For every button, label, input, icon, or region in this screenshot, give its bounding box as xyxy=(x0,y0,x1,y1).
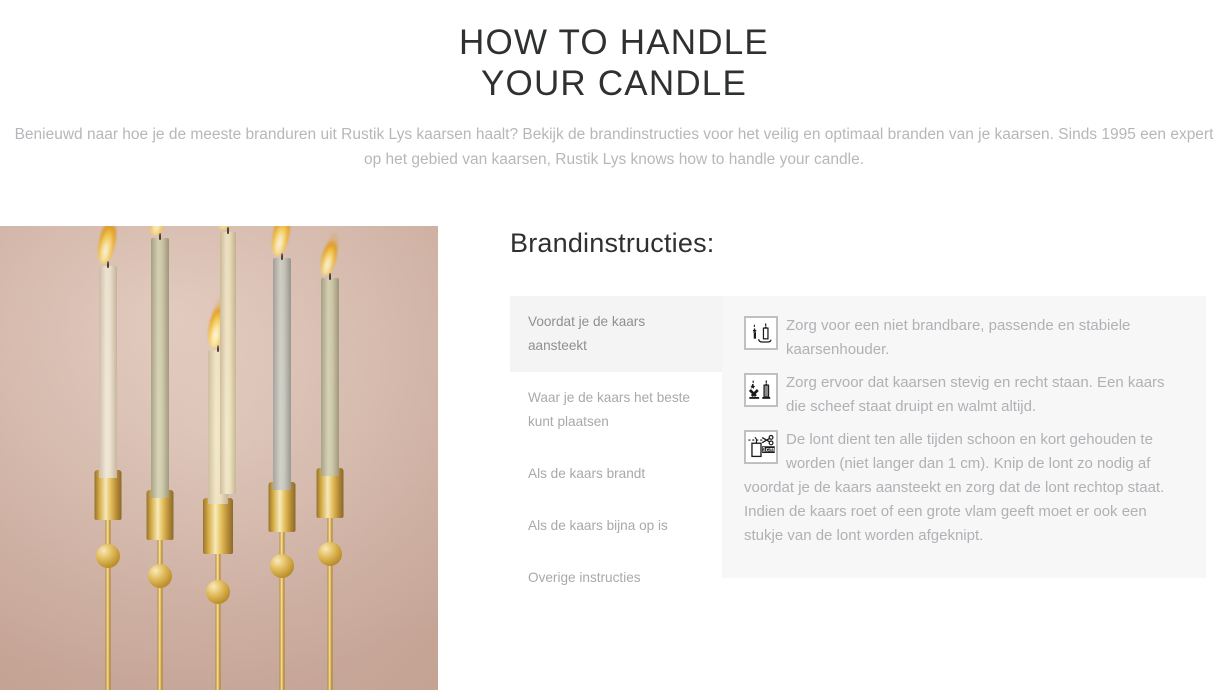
instruction-text: Zorg voor een niet brandbare, passende e… xyxy=(786,317,1130,358)
candle-holder-stable-icon xyxy=(744,316,778,350)
page-title-line-2: YOUR CANDLE xyxy=(0,63,1228,104)
photo-vignette xyxy=(0,226,438,690)
trim-wick-1cm-icon: 1cm xyxy=(744,430,778,464)
trim-measure-label: 1cm xyxy=(762,447,775,454)
page-title-line-1: HOW TO HANDLE xyxy=(0,22,1228,63)
tab-waar-je-de-kaars-het-beste-kunt-plaatsen[interactable]: Waar je de kaars het beste kunt plaatsen xyxy=(510,372,722,448)
instruction-item: Zorg voor een niet brandbare, passende e… xyxy=(744,314,1184,362)
tab-voordat-je-de-kaars-aansteekt[interactable]: Voordat je de kaars aansteekt xyxy=(510,296,722,372)
page-root: HOW TO HANDLE YOUR CANDLE Benieuwd naar … xyxy=(0,0,1228,690)
section-title: Brandinstructies: xyxy=(510,226,715,260)
lit-taper-candles-photo xyxy=(0,226,438,690)
page-title: HOW TO HANDLE YOUR CANDLE xyxy=(0,22,1228,104)
tab-panel-content: Zorg voor een niet brandbare, passende e… xyxy=(722,296,1206,578)
tab-overige-instructies[interactable]: Overige instructies xyxy=(510,552,722,604)
tab-als-de-kaars-brandt[interactable]: Als de kaars brandt xyxy=(510,448,722,500)
tab-als-de-kaars-bijna-op-is[interactable]: Als de kaars bijna op is xyxy=(510,500,722,552)
candle-upright-icon xyxy=(744,373,778,407)
instruction-item: 1cm De lont dient ten alle tijden schoon… xyxy=(744,428,1184,548)
instruction-text: De lont dient ten alle tijden schoon en … xyxy=(744,431,1164,544)
tabs-widget: Voordat je de kaars aansteekt Waar je de… xyxy=(510,296,1206,578)
page-header: HOW TO HANDLE YOUR CANDLE Benieuwd naar … xyxy=(0,0,1228,172)
page-subtitle: Benieuwd naar hoe je de meeste branduren… xyxy=(12,122,1217,172)
instruction-text: Zorg ervoor dat kaarsen stevig en recht … xyxy=(786,374,1165,415)
body-split: Brandinstructies: Voordat je de kaars aa… xyxy=(0,226,1228,690)
instructions-section: Brandinstructies: Voordat je de kaars aa… xyxy=(438,226,1228,690)
instruction-item: Zorg ervoor dat kaarsen stevig en recht … xyxy=(744,371,1184,419)
tab-list: Voordat je de kaars aansteekt Waar je de… xyxy=(510,296,722,604)
